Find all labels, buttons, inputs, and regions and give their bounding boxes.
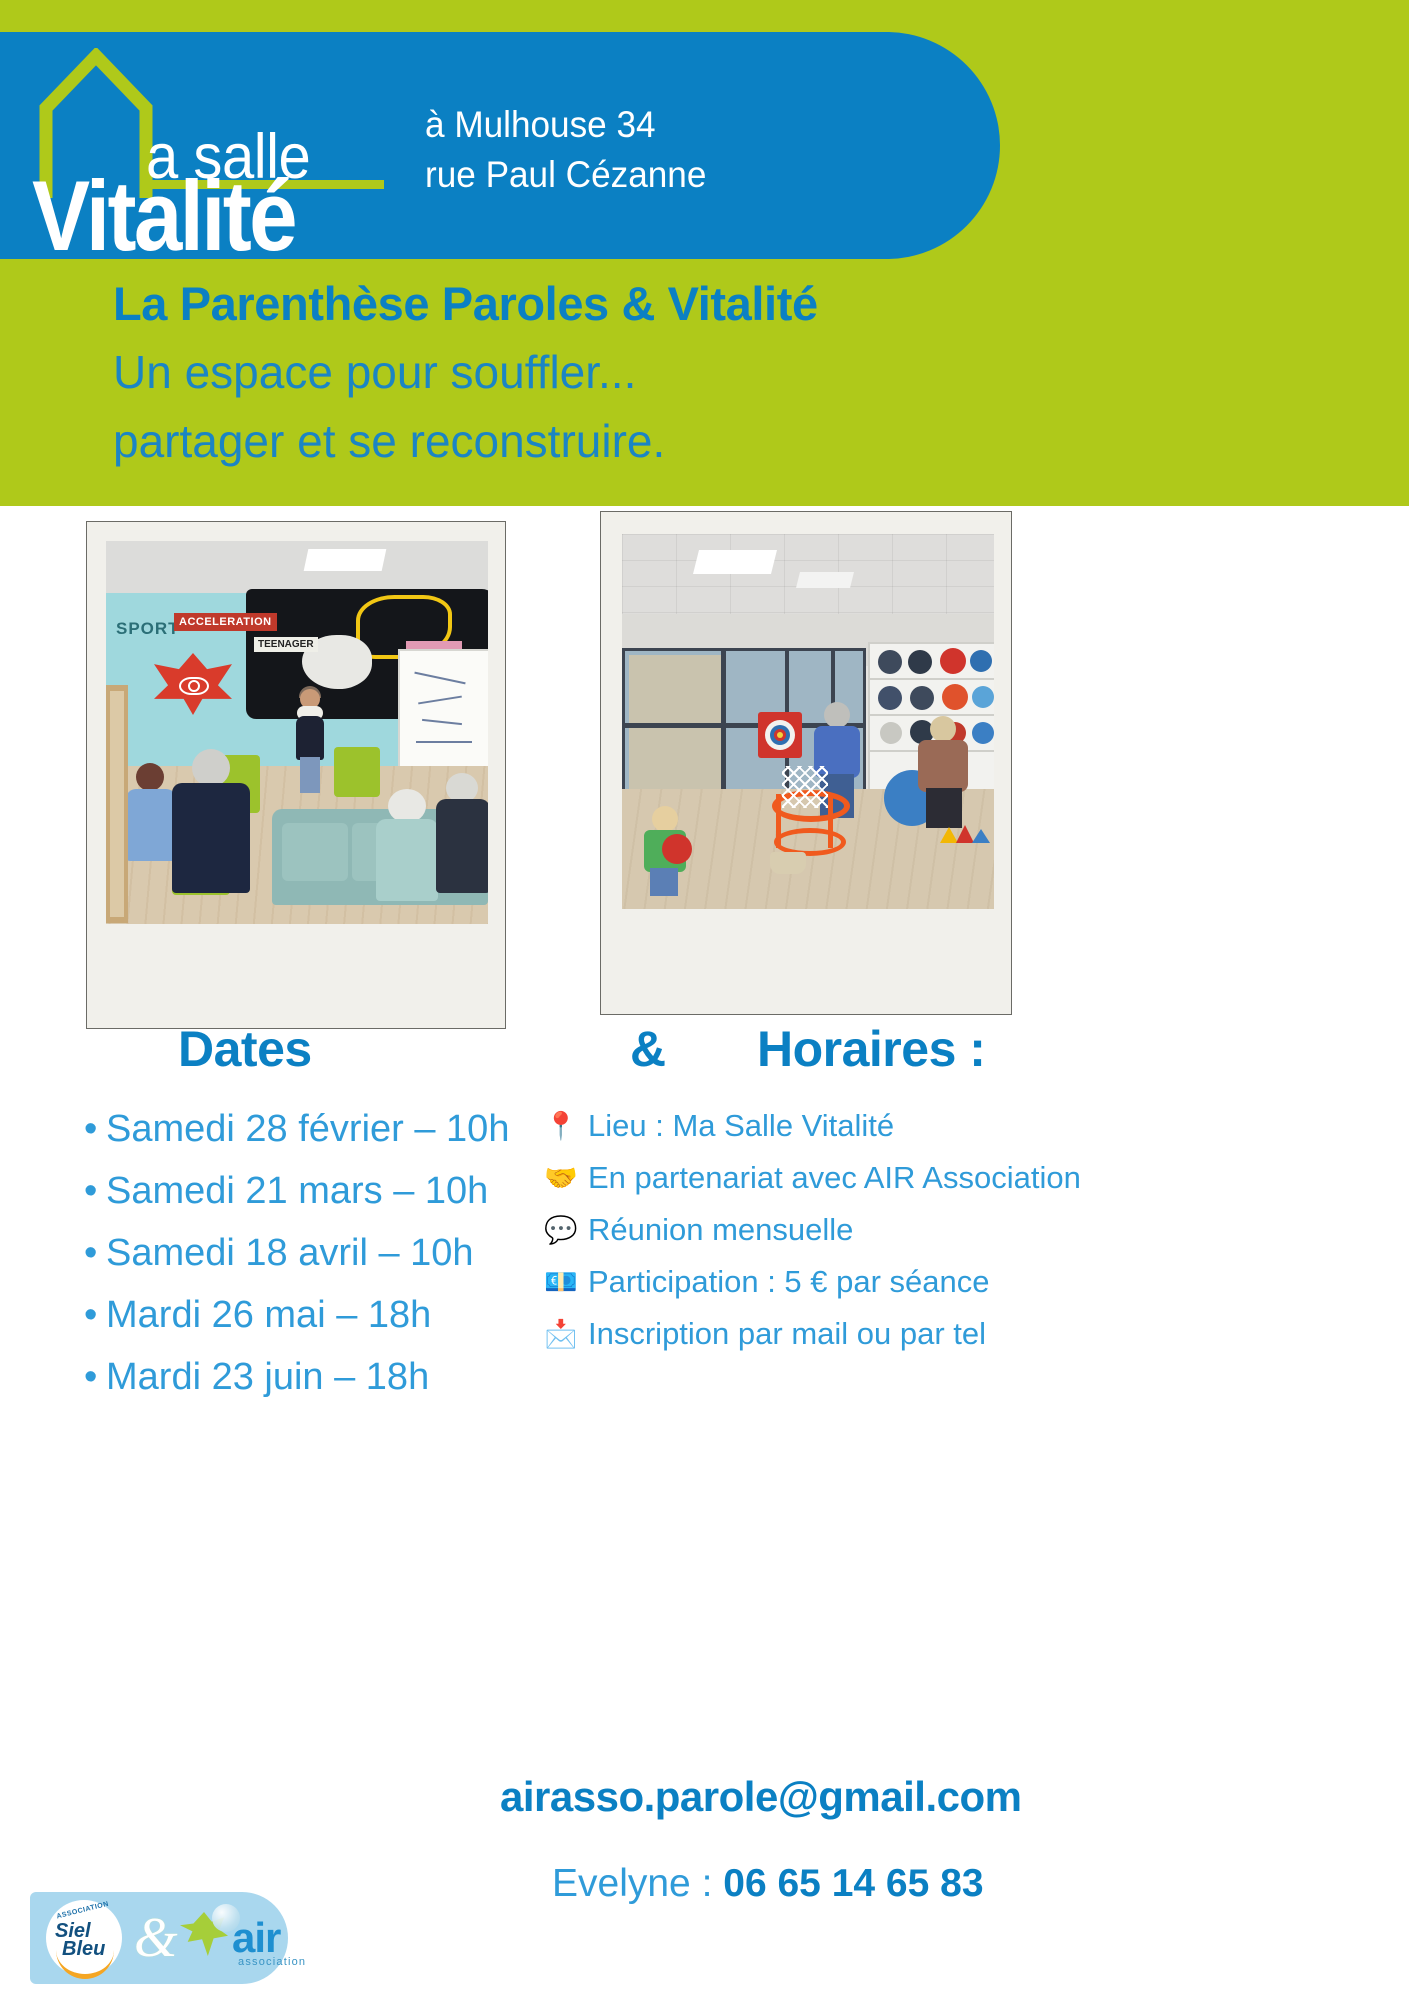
info-text: En partenariat avec AIR Association [588,1152,1081,1204]
bullet-icon: • [84,1098,106,1160]
list-item: 📍 Lieu : Ma Salle Vitalité [544,1100,1081,1152]
date-text: Samedi 28 février – 10h [106,1108,509,1150]
footer-partner-logos: ASSOCIATION Siel Bleu & air association [30,1892,288,1984]
info-text: Lieu : Ma Salle Vitalité [588,1100,894,1152]
contact-phone-number: 06 65 14 65 83 [723,1862,983,1905]
contact-phone[interactable]: Evelyne : 06 65 14 65 83 [552,1862,984,1906]
basketball-hoop-icon [772,760,838,856]
contact-email[interactable]: airasso.parole@gmail.com [500,1773,1022,1821]
info-text: Réunion mensuelle [588,1204,853,1256]
bullet-icon: • [84,1222,106,1284]
list-item: •Samedi 21 mars – 10h [84,1160,509,1222]
incoming-envelope-icon: 📩 [544,1308,588,1360]
poster-subtitle-line1: Un espace pour souffler... [113,345,636,399]
handshake-icon: 🤝 [544,1152,588,1204]
ampersand-separator: & [630,1020,666,1078]
air-logo-text: air [232,1914,280,1962]
list-item: 🤝 En partenariat avec AIR Association [544,1152,1081,1204]
photo-frame-workshop: SPORT ACCELERATION TEENAGER [86,521,506,1029]
poster-subtitle-line2: partager et se reconstruire. [113,414,665,468]
speech-bubble-icon: 💬 [544,1204,588,1256]
dates-heading: Dates [178,1020,312,1078]
logo-ma-salle-vitalite: a salle Vitalité [24,48,444,238]
bullet-icon: • [84,1346,106,1408]
photo-frame-gym [600,511,1012,1015]
date-text: Samedi 21 mars – 10h [106,1170,488,1212]
date-text: Mardi 23 juin – 18h [106,1356,429,1398]
location-pin-icon: 📍 [544,1100,588,1152]
contact-phone-label: Evelyne : [552,1862,723,1905]
siel-bleu-smile-icon [56,1948,114,1979]
horaires-info-list: 📍 Lieu : Ma Salle Vitalité 🤝 En partenar… [544,1100,1081,1360]
logo-text-vitalite: Vitalité [32,166,295,265]
title-panel: La Parenthèse Paroles & Vitalité Un espa… [0,259,1409,506]
dates-list: •Samedi 28 février – 10h •Samedi 21 mars… [84,1098,509,1408]
list-item: •Mardi 26 mai – 18h [84,1284,509,1346]
date-text: Samedi 18 avril – 10h [106,1232,474,1274]
date-text: Mardi 26 mai – 18h [106,1294,431,1336]
archery-target-icon [758,712,802,758]
footer-ampersand: & [134,1906,178,1970]
list-item: 📩 Inscription par mail ou par tel [544,1308,1081,1360]
list-item: •Samedi 28 février – 10h [84,1098,509,1160]
list-item: 💶 Participation : 5 € par séance [544,1256,1081,1308]
info-text: Participation : 5 € par séance [588,1256,990,1308]
photo-workshop-group: SPORT ACCELERATION TEENAGER [106,541,488,924]
list-item: •Mardi 23 juin – 18h [84,1346,509,1408]
air-logo-subtext: association [238,1956,306,1968]
horaires-heading: Horaires : [757,1020,985,1078]
siel-bleu-logo: ASSOCIATION Siel Bleu [46,1900,122,1976]
money-banknote-icon: 💶 [544,1256,588,1308]
list-item: •Samedi 18 avril – 10h [84,1222,509,1284]
poster-title: La Parenthèse Paroles & Vitalité [113,276,818,331]
list-item: 💬 Réunion mensuelle [544,1204,1081,1256]
venue-address: à Mulhouse 34 rue Paul Cézanne [425,100,706,200]
bullet-icon: • [84,1284,106,1346]
photo-gym-room [622,534,994,909]
bullet-icon: • [84,1160,106,1222]
info-text: Inscription par mail ou par tel [588,1308,986,1360]
